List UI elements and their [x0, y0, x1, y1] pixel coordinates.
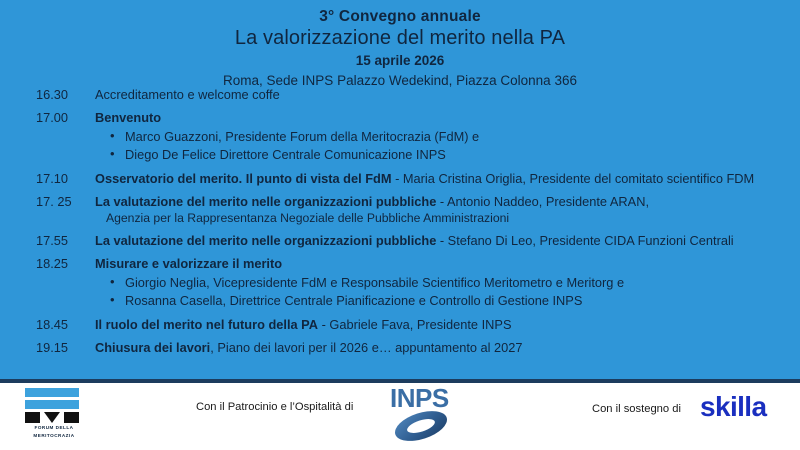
event-main-title: La valorizzazione del merito nella PA: [0, 26, 800, 51]
agenda-list: 16.30 Accreditamento e welcome coffe 17.…: [0, 86, 800, 362]
agenda-item-speaker: - Antonio Naddeo, Presidente ARAN,: [436, 194, 649, 209]
agenda-item-body: Accreditamento e welcome coffe: [88, 86, 800, 103]
event-edition-title: 3° Convegno annuale: [0, 7, 800, 26]
patrocinio-label: Con il Patrocinio e l’Ospitalità di: [196, 401, 353, 413]
logo-bar-top-icon: [25, 388, 79, 397]
agenda-item-speaker: - Gabriele Fava, Presidente INPS: [318, 317, 511, 332]
agenda-item-time: 17. 25: [0, 193, 88, 210]
agenda-item-title: Chiusura dei lavori: [95, 340, 210, 355]
agenda-item-title: La valutazione del merito nelle organizz…: [95, 233, 436, 248]
speaker-item: Marco Guazzoni, Presidente Forum della M…: [95, 128, 800, 146]
event-date: 15 aprile 2026: [0, 52, 800, 70]
slide-footer: FORUM DELLA MERITOCRAZIA Con il Patrocin…: [0, 383, 800, 450]
logo-symbol-row: [25, 412, 79, 423]
agenda-item-title: La valutazione del merito nelle organizz…: [95, 194, 436, 209]
agenda-item-description: Accreditamento e welcome coffe: [95, 87, 280, 102]
agenda-item-body: La valutazione del merito nelle organizz…: [88, 232, 800, 249]
agenda-item-title: Osservatorio del merito. Il punto di vis…: [95, 171, 392, 186]
logo-square-right-icon: [64, 412, 79, 423]
agenda-item-subtext: Agenzia per la Rappresentanza Negoziale …: [95, 210, 800, 226]
agenda-item: 17. 25 La valutazione del merito nelle o…: [0, 193, 800, 226]
agenda-item-title: Il ruolo del merito nel futuro della PA: [95, 317, 318, 332]
logo-triangle-down-icon: [44, 412, 60, 423]
agenda-item-body: Osservatorio del merito. Il punto di vis…: [88, 170, 800, 187]
sostegno-label: Con il sostegno di: [592, 403, 681, 415]
agenda-item-time: 17.10: [0, 170, 88, 187]
agenda-item-title: Misurare e valorizzare il merito: [95, 256, 282, 271]
logo-wordmark-line2: MERITOCRAZIA: [25, 433, 83, 439]
agenda-item-speakers: Giorgio Neglia, Vicepresidente FdM e Res…: [95, 274, 800, 310]
agenda-item: 18.45 Il ruolo del merito nel futuro del…: [0, 316, 800, 333]
agenda-item-time: 17.00: [0, 109, 88, 126]
speaker-item: Diego De Felice Direttore Centrale Comun…: [95, 146, 800, 164]
skilla-logo-wordmark: skilla: [700, 391, 766, 423]
slide-header: 3° Convegno annuale La valorizzazione de…: [0, 0, 800, 90]
inps-wordmark: INPS: [390, 385, 460, 412]
agenda-item: 17.10 Osservatorio del merito. Il punto …: [0, 170, 800, 187]
agenda-item-title: Benvenuto: [95, 110, 161, 125]
agenda-item-description: , Piano dei lavori per il 2026 e… appunt…: [210, 340, 522, 355]
agenda-item-body: Chiusura dei lavori, Piano dei lavori pe…: [88, 339, 800, 356]
inps-logo: INPS: [390, 385, 460, 445]
slide-canvas: 3° Convegno annuale La valorizzazione de…: [0, 0, 800, 450]
agenda-item-body: Benvenuto Marco Guazzoni, Presidente For…: [88, 109, 800, 164]
logo-square-left-icon: [25, 412, 40, 423]
agenda-item-time: 16.30: [0, 86, 88, 103]
agenda-item-time: 17.55: [0, 232, 88, 249]
agenda-item-time: 19.15: [0, 339, 88, 356]
agenda-item-body: La valutazione del merito nelle organizz…: [88, 193, 800, 226]
agenda-item: 19.15 Chiusura dei lavori, Piano dei lav…: [0, 339, 800, 356]
agenda-item-speakers: Marco Guazzoni, Presidente Forum della M…: [95, 128, 800, 164]
agenda-item-body: Il ruolo del merito nel futuro della PA …: [88, 316, 800, 333]
logo-wordmark-line1: FORUM DELLA: [25, 425, 83, 431]
speaker-item: Giorgio Neglia, Vicepresidente FdM e Res…: [95, 274, 800, 292]
agenda-item-speaker: - Stefano Di Leo, Presidente CIDA Funzio…: [436, 233, 733, 248]
agenda-item-time: 18.45: [0, 316, 88, 333]
speaker-item: Rosanna Casella, Direttrice Centrale Pia…: [95, 292, 800, 310]
inps-ring-icon: [392, 411, 450, 441]
logo-bar-bottom-icon: [25, 400, 79, 409]
agenda-item: 17.00 Benvenuto Marco Guazzoni, Presiden…: [0, 109, 800, 164]
agenda-item: 16.30 Accreditamento e welcome coffe: [0, 86, 800, 103]
agenda-item-time: 18.25: [0, 255, 88, 272]
agenda-item-speaker: - Maria Cristina Origlia, Presidente del…: [392, 171, 755, 186]
agenda-item: 17.55 La valutazione del merito nelle or…: [0, 232, 800, 249]
agenda-item-body: Misurare e valorizzare il merito Giorgio…: [88, 255, 800, 310]
agenda-item: 18.25 Misurare e valorizzare il merito G…: [0, 255, 800, 310]
forum-meritocrazia-logo: FORUM DELLA MERITOCRAZIA: [25, 388, 83, 438]
